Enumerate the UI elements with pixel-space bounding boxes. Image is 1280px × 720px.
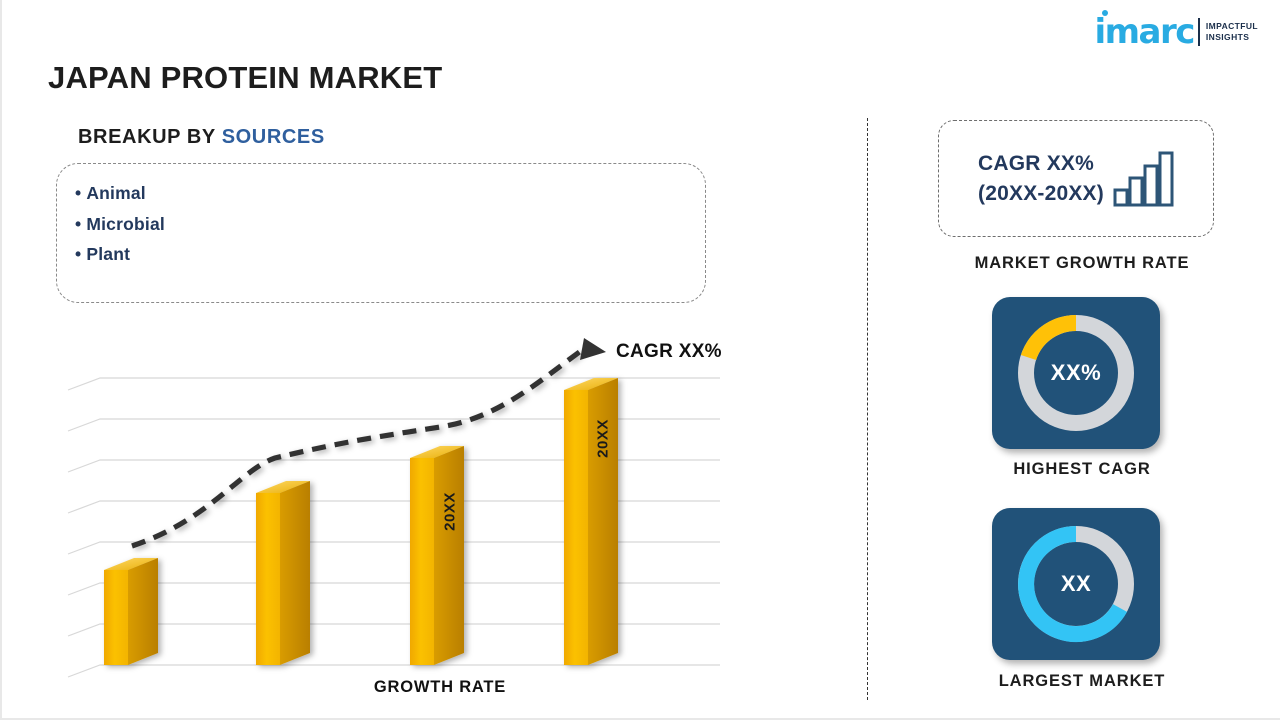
segment-label: Plant	[86, 244, 130, 264]
market-growth-card: CAGR XX% (20XX-20XX)	[938, 120, 1214, 237]
chart-bar-1	[104, 558, 158, 665]
chart-gridlines	[68, 378, 720, 677]
imarc-logo: imarc IMPACTFUL INSIGHTS	[1094, 14, 1258, 50]
bar-label-3: 20XX	[442, 467, 459, 557]
largest-market-value: XX	[1061, 571, 1091, 597]
list-item: •Microbial	[75, 209, 705, 240]
breakup-subtitle-prefix: BREAKUP BY	[78, 126, 216, 148]
market-growth-line1: CAGR XX%	[978, 149, 1104, 179]
logo-tagline-line1: IMPACTFUL	[1206, 21, 1258, 32]
bullet-icon: •	[75, 183, 81, 203]
highest-cagr-tile: XX%	[992, 297, 1160, 449]
logo-tagline: IMPACTFUL INSIGHTS	[1206, 21, 1258, 43]
page-title: JAPAN PROTEIN MARKET	[48, 60, 442, 96]
logo-text: imarc	[1094, 12, 1193, 52]
breakup-subtitle: BREAKUP BY SOURCES	[78, 126, 325, 149]
market-growth-line2: (20XX-20XX)	[978, 179, 1104, 209]
bar-label-4: 20XX	[595, 394, 612, 484]
chart-trend-line	[132, 338, 606, 546]
vertical-divider	[867, 118, 868, 700]
bullet-icon: •	[75, 214, 81, 234]
growth-bar-chart: CAGR XX% GROWTH RATE 20XX 20XX	[60, 330, 750, 700]
market-growth-caption: MARKET GROWTH RATE	[902, 254, 1262, 273]
list-item: •Plant	[75, 239, 705, 270]
segment-label: Microbial	[86, 214, 165, 234]
highest-cagr-value: XX%	[1051, 360, 1101, 386]
largest-market-caption: LARGEST MARKET	[902, 672, 1262, 691]
segments-list: •Animal •Microbial •Plant	[75, 178, 705, 270]
chart-x-axis-label: GROWTH RATE	[290, 678, 590, 697]
segments-box: •Animal •Microbial •Plant	[56, 163, 706, 303]
chart-cagr-label: CAGR XX%	[616, 341, 722, 363]
infographic-page: imarc IMPACTFUL INSIGHTS JAPAN PROTEIN M…	[0, 0, 1280, 720]
chart-canvas	[60, 330, 750, 700]
breakup-subtitle-highlight: SOURCES	[222, 126, 325, 148]
segment-label: Animal	[86, 183, 146, 203]
logo-divider	[1198, 18, 1200, 46]
logo-tagline-line2: INSIGHTS	[1206, 32, 1258, 43]
trend-arrowhead-icon	[580, 338, 606, 360]
largest-market-tile: XX	[992, 508, 1160, 660]
chart-bar-2	[256, 481, 310, 665]
logo-wordmark: imarc	[1094, 15, 1193, 49]
bar-chart-icon	[1112, 150, 1174, 213]
bullet-icon: •	[75, 244, 81, 264]
market-growth-text: CAGR XX% (20XX-20XX)	[978, 149, 1104, 209]
highest-cagr-caption: HIGHEST CAGR	[902, 460, 1262, 479]
list-item: •Animal	[75, 178, 705, 209]
